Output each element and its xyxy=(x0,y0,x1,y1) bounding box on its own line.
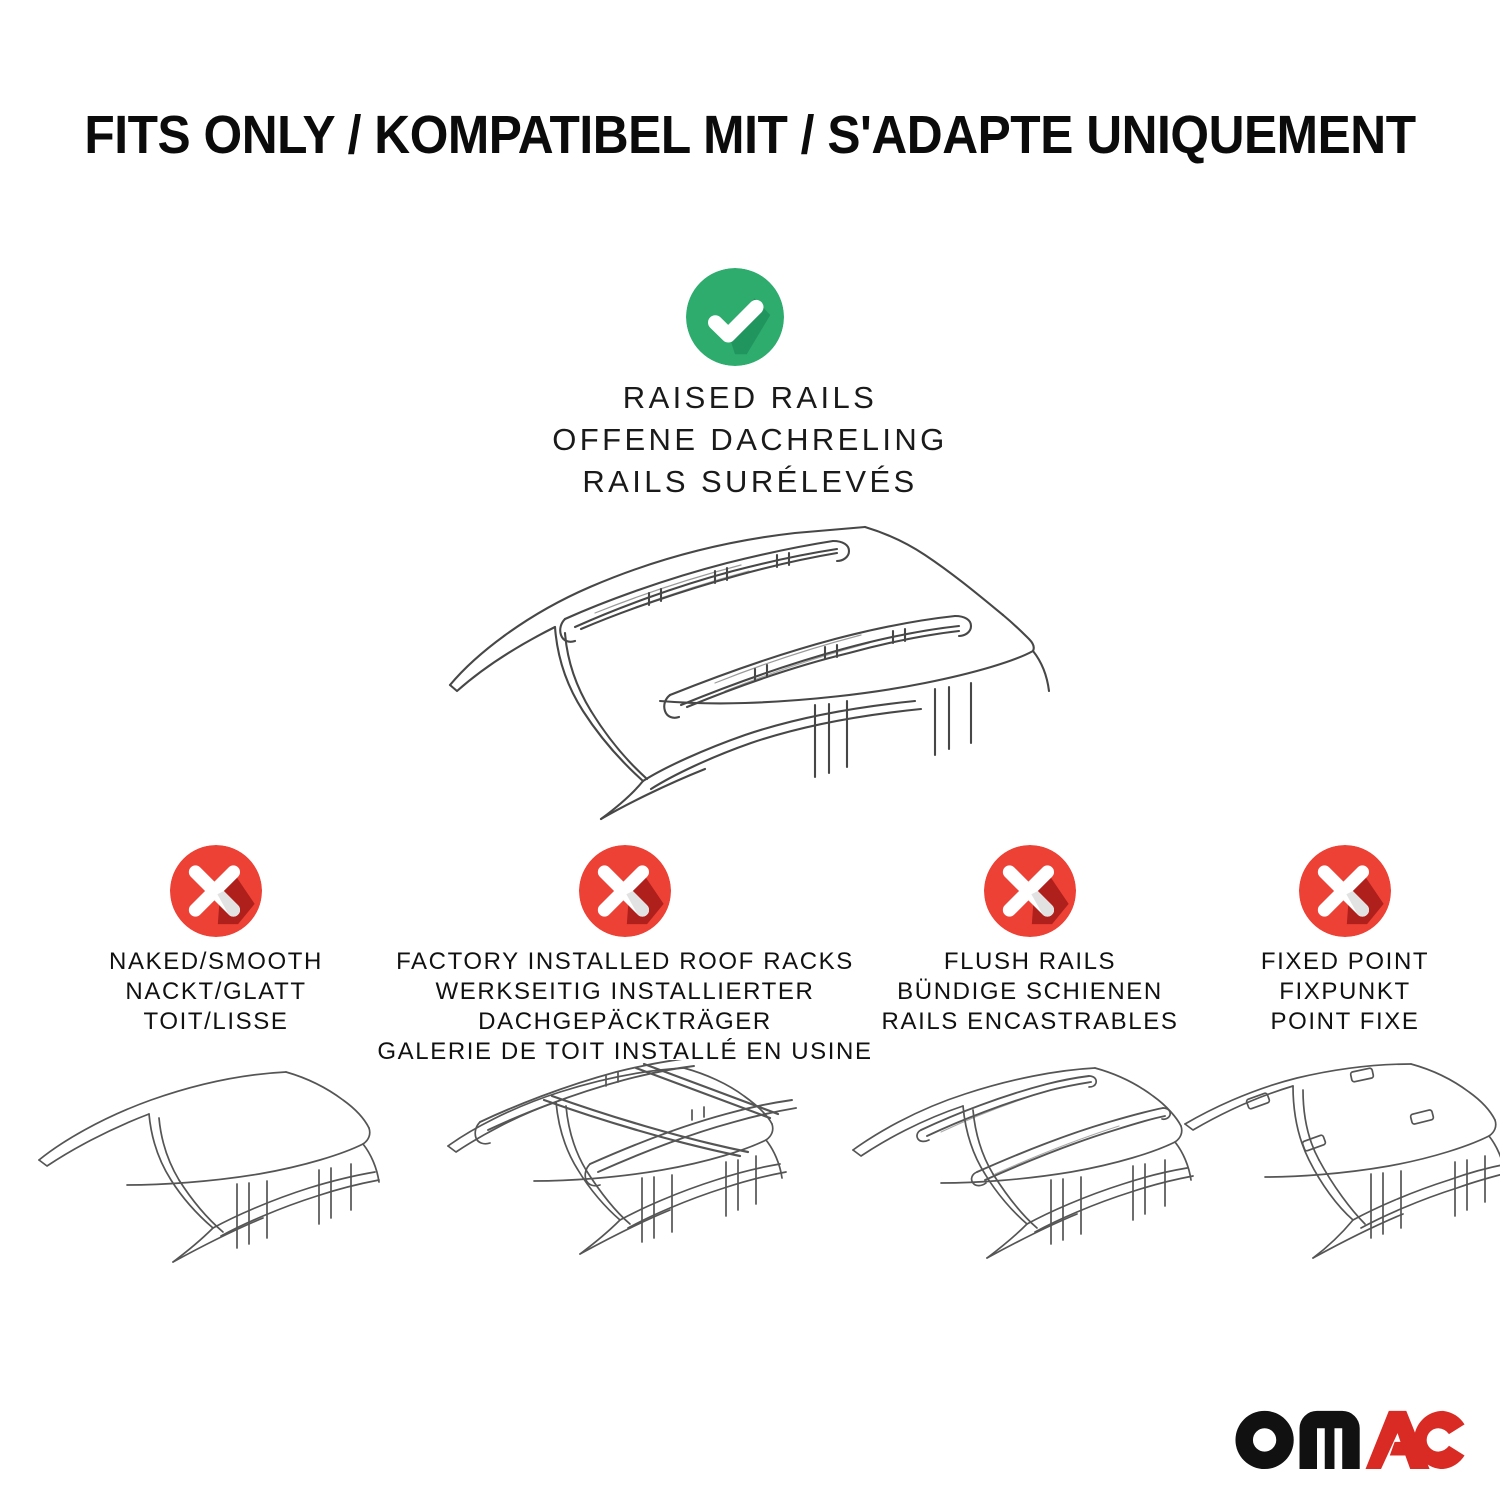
rejected-caption-flush-rails: FLUSH RAILS BÜNDIGE SCHIENEN RAILS ENCAS… xyxy=(882,947,1179,1037)
approved-caption-line-de: OFFENE DACHRELING xyxy=(0,419,1500,461)
caption-line-en: NAKED/SMOOTH xyxy=(109,947,323,977)
omac-logo xyxy=(1232,1405,1468,1471)
check-circle-icon xyxy=(686,268,784,366)
approved-caption: RAISED RAILS OFFENE DACHRELING RAILS SUR… xyxy=(0,377,1500,503)
rejected-caption-factory-racks: FACTORY INSTALLED ROOF RACKS WERKSEITIG … xyxy=(377,947,872,1067)
caption-line-de: BÜNDIGE SCHIENEN xyxy=(882,977,1179,1007)
car-roof-factory-racks-illustration xyxy=(440,1060,810,1280)
x-circle-icon xyxy=(1299,845,1391,937)
x-circle-icon xyxy=(170,845,262,937)
caption-line-de: NACKT/GLATT xyxy=(109,977,323,1007)
caption-line-fr: POINT FIXE xyxy=(1261,1007,1429,1037)
caption-line-fr: RAILS ENCASTRABLES xyxy=(882,1007,1179,1037)
caption-line-de: FIXPUNKT xyxy=(1261,977,1429,1007)
caption-line-en: FACTORY INSTALLED ROOF RACKS xyxy=(377,947,872,977)
page-title: FITS ONLY / KOMPATIBEL MIT / S'ADAPTE UN… xyxy=(60,104,1440,166)
caption-line-fr: TOIT/LISSE xyxy=(109,1007,323,1037)
approved-caption-line-fr: RAILS SURÉLEVÉS xyxy=(0,461,1500,503)
rejected-caption-fixed-point: FIXED POINT FIXPUNKT POINT FIXE xyxy=(1261,947,1429,1037)
caption-line-de-1: WERKSEITIG INSTALLIERTER xyxy=(377,977,872,1007)
caption-line-en: FLUSH RAILS xyxy=(882,947,1179,977)
car-roof-raised-rails-illustration xyxy=(415,505,1115,835)
approved-caption-line-en: RAISED RAILS xyxy=(0,377,1500,419)
caption-line-en: FIXED POINT xyxy=(1261,947,1429,977)
rejected-caption-naked-smooth: NAKED/SMOOTH NACKT/GLATT TOIT/LISSE xyxy=(109,947,323,1037)
caption-line-de-2: DACHGEPÄCKTRÄGER xyxy=(377,1007,872,1037)
x-circle-icon xyxy=(984,845,1076,937)
car-roof-naked-smooth-illustration xyxy=(31,1060,401,1280)
car-roof-flush-rails-illustration xyxy=(845,1060,1215,1280)
car-roof-fixed-point-illustration xyxy=(1175,1060,1500,1280)
x-circle-icon xyxy=(579,845,671,937)
